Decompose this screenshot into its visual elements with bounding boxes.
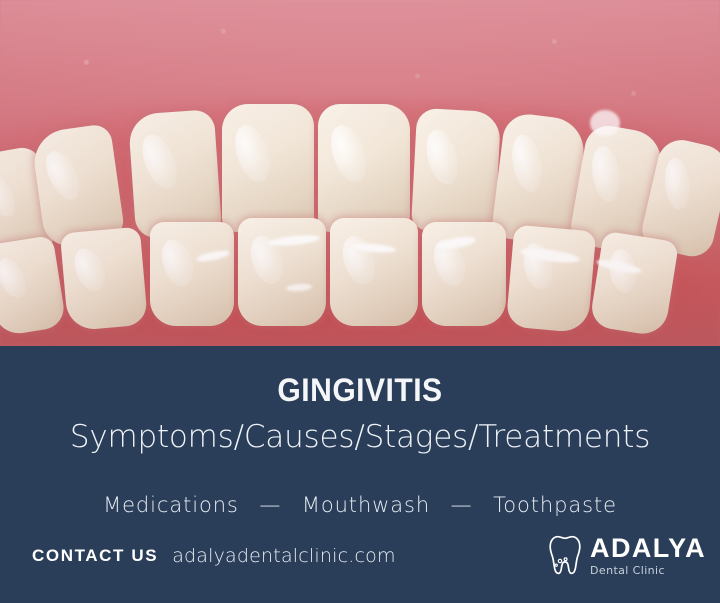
item-toothpaste: Toothpaste [493,493,617,517]
tooth-upper-right-central [318,104,410,232]
contact-row: CONTACT US adalyadentalclinic.com [32,545,396,567]
tooth-icon [545,534,585,576]
tooth-lower-right-canine [506,225,597,334]
headline-title: GINGIVITIS [22,374,699,406]
logo-tagline: Dental Clinic [590,565,706,576]
gingivitis-poster: GINGIVITIS Symptoms/Causes/Stages/Treatm… [0,0,720,603]
item-separator: — [438,495,486,516]
tooth-lower-left-canine [60,227,148,332]
item-mouthwash: Mouthwash [302,493,430,517]
tooth-upper-left-lateral [128,109,222,239]
tooth-upper-left-central [222,104,314,232]
logo-clinic-name: ADALYA [590,535,706,562]
tooth-lower-right-central [330,218,418,326]
website-url[interactable]: adalyadentalclinic.com [172,545,395,567]
treatment-items-line: Medications — Mouthwash — Toothpaste [0,495,720,516]
tooth-upper-right-lateral [411,108,501,234]
info-banner: GINGIVITIS Symptoms/Causes/Stages/Treatm… [0,346,720,603]
clinic-logo[interactable]: ADALYA Dental Clinic [545,534,706,576]
specular-highlight [590,110,620,136]
dental-photo [0,0,720,346]
tooth-lower-left-lateral [150,222,234,326]
subtitle-topics: Symptoms/Causes/Stages/Treatments [0,422,720,453]
item-separator: — [246,495,294,516]
tooth-lower-left-central [238,218,326,326]
logo-text-block: ADALYA Dental Clinic [590,535,706,576]
item-medications: Medications [103,493,239,517]
contact-us-label: CONTACT US [32,546,158,566]
